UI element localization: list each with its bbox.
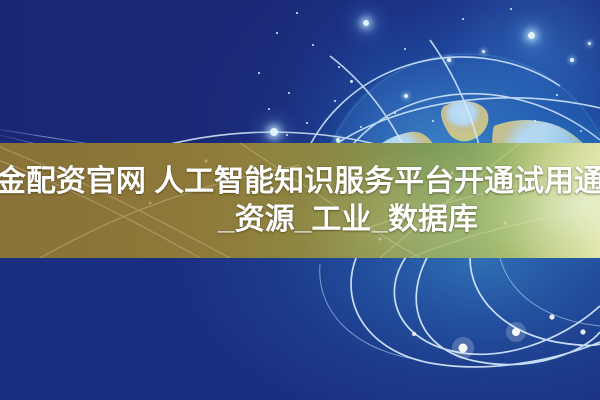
title-line-2: _资源_工业_数据库 — [122, 201, 478, 239]
title-line-1: 诚金配资官网 人工智能知识服务平台开通试用通知 — [0, 163, 600, 201]
banner-image: 诚金配资官网 人工智能知识服务平台开通试用通知 _资源_工业_数据库 — [0, 0, 600, 400]
banner-title: 诚金配资官网 人工智能知识服务平台开通试用通知 _资源_工业_数据库 — [0, 143, 600, 258]
